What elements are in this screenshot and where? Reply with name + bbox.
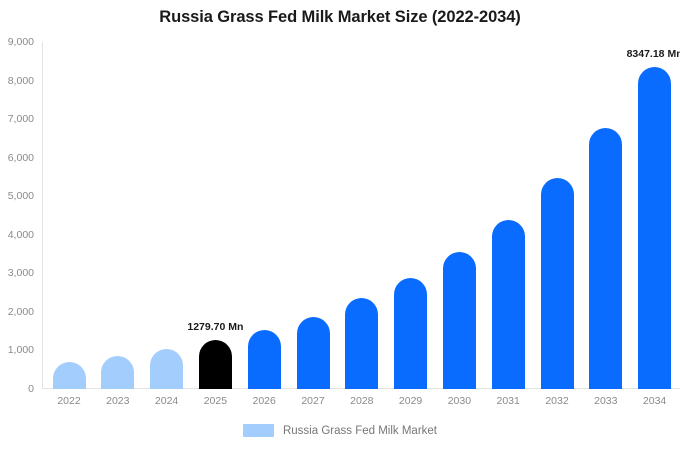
- x-axis-tick-label: 2032: [545, 395, 568, 407]
- chart-legend: Russia Grass Fed Milk Market: [0, 424, 680, 437]
- bar[interactable]: [297, 317, 330, 389]
- y-axis-tick-label: 8,000: [0, 75, 34, 87]
- bar-chart: Russia Grass Fed Milk Market Size (2022-…: [0, 0, 680, 450]
- bar[interactable]: [53, 362, 86, 389]
- bar[interactable]: [345, 298, 378, 389]
- x-axis-tick-label: 2033: [594, 395, 617, 407]
- bar[interactable]: [248, 330, 281, 389]
- y-axis-tick-label: 0: [0, 383, 34, 395]
- x-axis-tick-label: 2025: [204, 395, 227, 407]
- x-axis-tick-label: 2024: [155, 395, 178, 407]
- x-axis-tick-label: 2027: [301, 395, 324, 407]
- bar[interactable]: [492, 220, 525, 389]
- bar[interactable]: [199, 340, 232, 389]
- x-axis-tick-label: 2029: [399, 395, 422, 407]
- x-axis-tick-label: 2022: [57, 395, 80, 407]
- bar[interactable]: [150, 349, 183, 389]
- y-axis-tick-label: 7,000: [0, 113, 34, 125]
- legend-swatch-icon: [243, 424, 274, 437]
- bar[interactable]: [638, 67, 671, 389]
- x-axis-tick-label: 2034: [643, 395, 666, 407]
- bars-layer: [42, 42, 680, 389]
- bar[interactable]: [394, 278, 427, 389]
- bar[interactable]: [101, 356, 134, 389]
- y-axis-tick-label: 9,000: [0, 36, 34, 48]
- legend-item[interactable]: Russia Grass Fed Milk Market: [243, 424, 437, 437]
- x-axis-tick-label: 2028: [350, 395, 373, 407]
- y-axis-tick-label: 6,000: [0, 152, 34, 164]
- x-axis-tick-label: 2031: [497, 395, 520, 407]
- bar[interactable]: [443, 252, 476, 389]
- y-axis-tick-label: 4,000: [0, 229, 34, 241]
- x-axis-tick-label: 2030: [448, 395, 471, 407]
- bar[interactable]: [589, 128, 622, 389]
- x-axis-tick-label: 2023: [106, 395, 129, 407]
- bar-value-label: 8347.18 Mn: [627, 48, 680, 60]
- x-axis-tick-label: 2026: [253, 395, 276, 407]
- y-axis-tick-label: 5,000: [0, 190, 34, 202]
- y-axis-tick-label: 3,000: [0, 267, 34, 279]
- y-axis-tick-label: 2,000: [0, 306, 34, 318]
- plot-area: [42, 42, 680, 389]
- chart-title: Russia Grass Fed Milk Market Size (2022-…: [0, 8, 680, 27]
- legend-label: Russia Grass Fed Milk Market: [283, 425, 437, 437]
- bar-value-label: 1279.70 Mn: [187, 321, 243, 333]
- y-axis-tick-label: 1,000: [0, 344, 34, 356]
- bar[interactable]: [541, 178, 574, 389]
